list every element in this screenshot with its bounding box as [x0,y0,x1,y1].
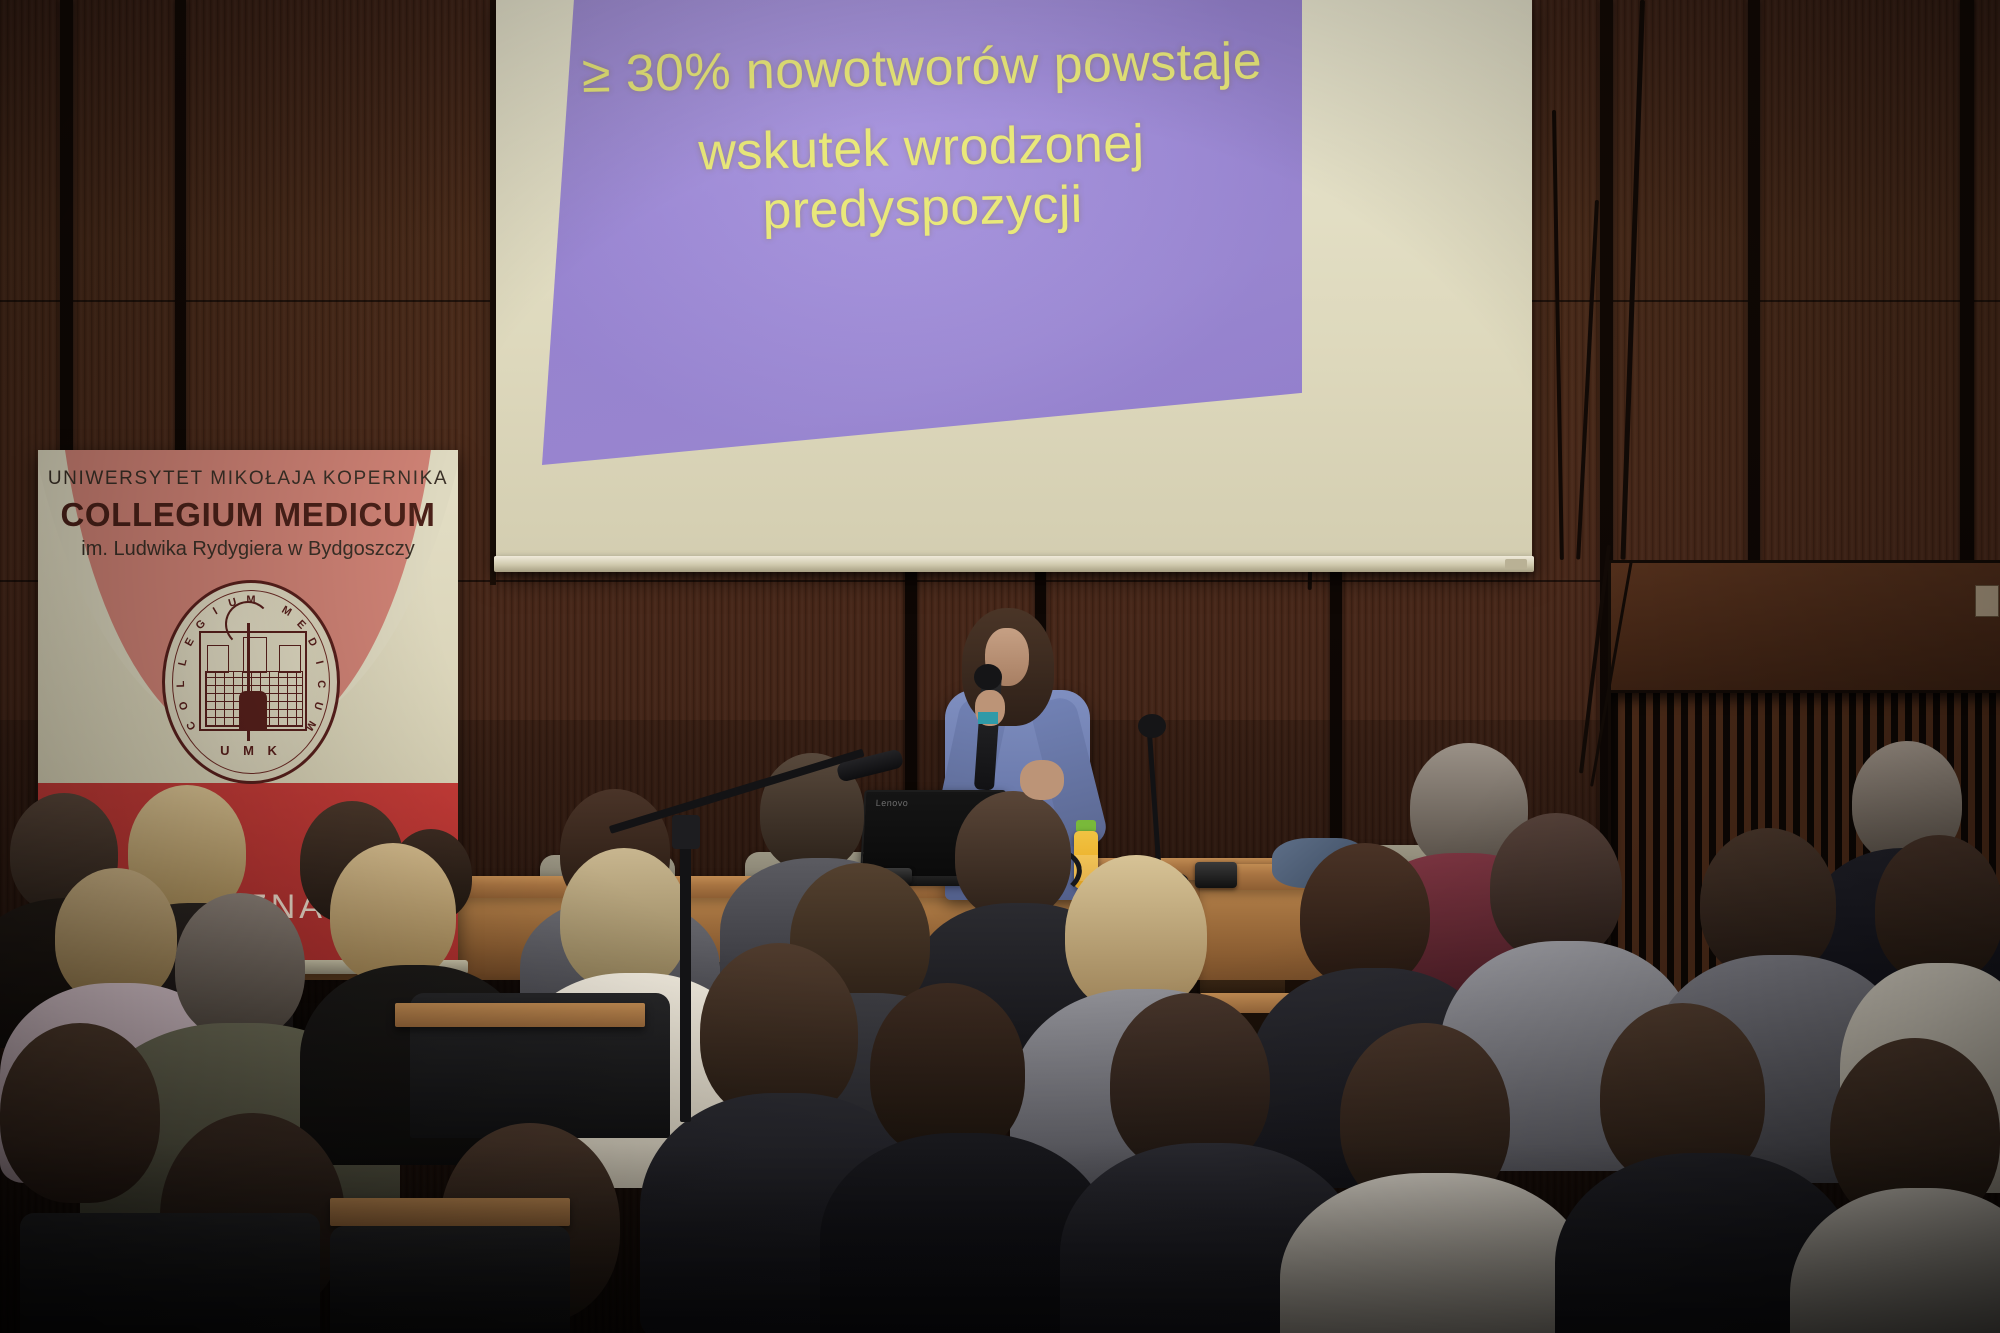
seal-arc-char: M [280,604,294,619]
audience-area [0,693,2000,1333]
audience-head [1490,813,1622,961]
lecture-hall-photo: ≥ 30% nowotworów powstaje wskutek wrodzo… [0,0,2000,1333]
banner-line-1: UNIWERSYTET MIKOŁAJA KOPERNIKA [38,468,458,490]
screen-pull-knob[interactable] [1505,559,1527,569]
boom-stand-pole[interactable] [680,832,691,1122]
seal-arc-char: G [194,618,209,633]
audience-desk [330,1198,570,1226]
seal-arc-char: L [175,681,187,688]
screen-bottom-bar[interactable] [494,556,1534,572]
grille-header-panel [1608,560,2000,696]
slide-line-2: wskutek wrodzonej predyspozycji [542,110,1302,245]
seal-arc-char: I [211,605,220,617]
seal-arc-char: L [176,658,189,667]
audience-head [330,843,456,983]
audience-head [175,893,305,1039]
audience-head [0,1023,160,1203]
banner-line-2: COLLEGIUM MEDICUM [38,496,458,534]
audience-head [1875,835,2000,983]
seal-arc-char: E [294,618,308,632]
audience-head [560,848,688,990]
seal-tower-right [279,645,301,673]
seal-arc-char: C [315,680,327,688]
speaker-hand [1020,760,1064,800]
audience-head [870,983,1025,1158]
seal-arc-char: D [305,636,319,649]
projection-screen: ≥ 30% nowotworów powstaje wskutek wrodzo… [496,0,1532,570]
audience-head [955,791,1071,919]
microphone-head [974,664,1002,690]
audience-seat [20,1213,320,1333]
wall-switch[interactable] [1975,585,1999,617]
boom-stand-clamp[interactable] [672,815,700,849]
audience-seat [330,1226,570,1333]
projected-slide: ≥ 30% nowotworów powstaje wskutek wrodzo… [542,0,1302,465]
seal-arc-char: E [183,636,197,648]
audience-desk [395,1003,645,1027]
audience-head [1300,843,1430,988]
seal-tower-left [207,645,229,673]
seal-arc-char: I [313,660,325,666]
microphone-band [978,712,998,724]
banner-line-3: im. Ludwika Rydygiera w Bydgoszczy [38,538,458,561]
